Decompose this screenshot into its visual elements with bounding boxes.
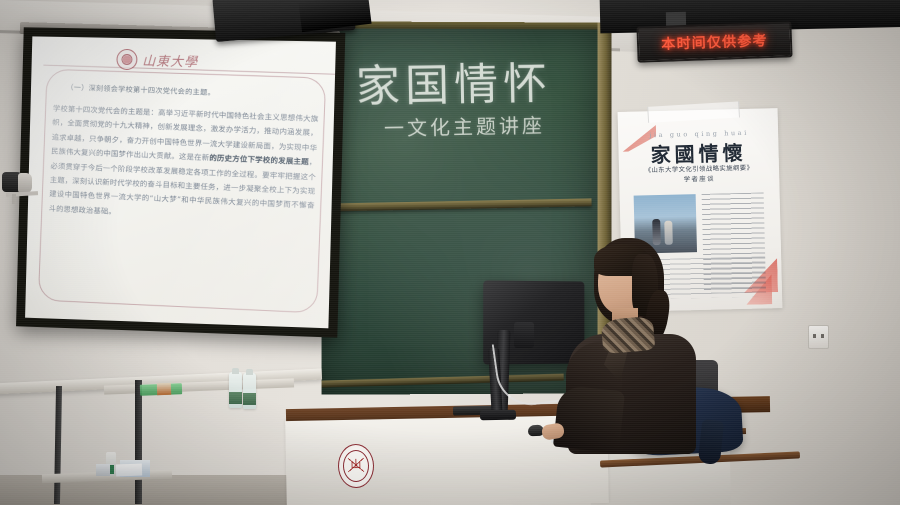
slide-body: 学校第十四次党代会的主题是：高举习近平新时代中国特色社会主义思想伟大旗帜，全面贯… xyxy=(48,102,318,229)
university-logo-text: 山東大學 xyxy=(142,50,198,70)
water-bottle-right xyxy=(243,373,256,409)
blackboard-subtitle: 一文化主题讲座 xyxy=(384,109,546,141)
led-sign: 本时间仅供参考 xyxy=(636,21,792,62)
screen-surface: 山東大學 （一）深刻领会学校第十四次党代会的主题。 学校第十四次党代会的主题是：… xyxy=(25,36,336,328)
blackboard-title: 家国情怀 xyxy=(355,48,552,115)
presentation-slide: 山東大學 （一）深刻领会学校第十四次党代会的主题。 学校第十四次党代会的主题是：… xyxy=(25,36,336,328)
water-bottle-left xyxy=(229,372,242,408)
slide-paragraph-1: 学校第十四次党代会的主题是：高举习近平新时代中国特色社会主义思想伟大旗帜，全面贯… xyxy=(51,104,319,162)
monitor-base xyxy=(480,410,516,421)
arm xyxy=(553,385,625,454)
led-sign-text: 本时间仅供参考 xyxy=(661,30,768,54)
small-carton xyxy=(96,464,110,476)
bottle-cap-icon xyxy=(232,368,239,374)
side-table-leg-right xyxy=(135,380,142,504)
lecture-hall-photo: 家国情怀 一文化主题讲座 山東大學 （一）深刻领会学校第十四次党代会的主题。 学… xyxy=(0,0,900,505)
wall-speaker-body xyxy=(18,173,32,193)
wall-speaker-stem xyxy=(12,194,16,204)
university-logo: 山東大學 xyxy=(116,48,246,72)
emblem-mark: 山 xyxy=(348,458,364,472)
tissue-pack xyxy=(116,464,142,477)
power-outlet xyxy=(808,325,829,349)
slide-paragraph-2: ，必须贯穿于今后一个阶段学校改革发展稳定各项工作的全过程。要牢牢把握这个主题，深… xyxy=(48,158,316,216)
bottle-label xyxy=(243,393,256,405)
tray-item xyxy=(157,383,171,395)
bottle-cap-icon xyxy=(246,369,253,375)
projection-screen: 山東大學 （一）深刻领会学校第十四次党代会的主题。 学校第十四次党代会的主题是：… xyxy=(16,27,345,337)
bottle-label xyxy=(229,392,242,404)
lecturer xyxy=(560,238,710,448)
scarf xyxy=(601,316,656,354)
slide-emphasis: 的历史方位下学校的发展主题 xyxy=(209,153,309,166)
seal-icon xyxy=(116,48,137,69)
